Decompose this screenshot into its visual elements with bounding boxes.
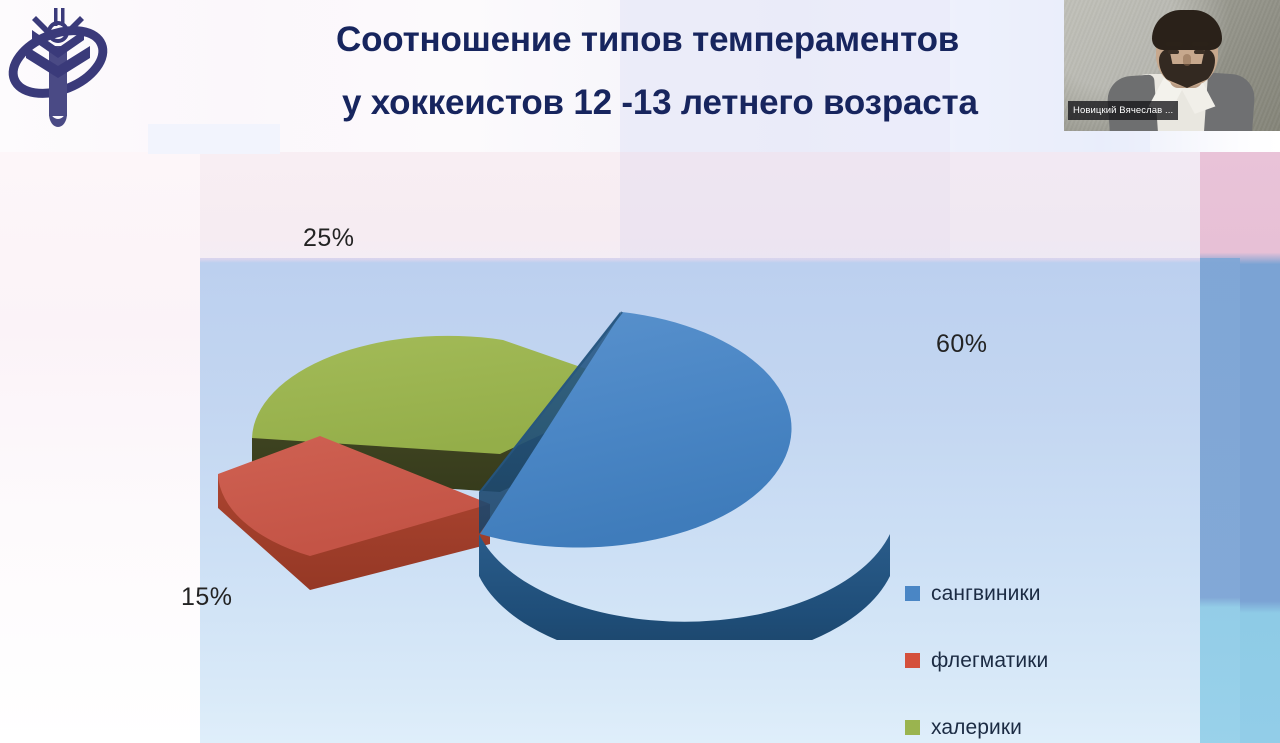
data-label-phlegmatic: 15% [181, 583, 233, 612]
page-title: Соотношение типов темпераментов у хоккеи… [336, 8, 1076, 134]
video-tile-gap [148, 124, 280, 154]
participant-brow-left [1165, 42, 1183, 46]
participant-eye-left [1168, 50, 1179, 54]
legend-item-choleric[interactable]: халерики [905, 694, 1225, 743]
presentation-slide: 25% 60% 15% сангвиники флегматики халери… [0, 0, 1280, 743]
background-stripe-left [0, 152, 200, 743]
participant-brow-right [1191, 42, 1209, 46]
legend-swatch-icon [905, 653, 920, 668]
data-label-choleric: 25% [303, 224, 355, 253]
participant-name-label: Новицкий Вячеслав ... [1068, 101, 1178, 120]
video-participant-tile[interactable]: Новицкий Вячеслав ... [1064, 0, 1280, 131]
participant-hair [1152, 10, 1222, 50]
chart-legend: сангвиники флегматики халерики [905, 560, 1225, 743]
institute-emblem-icon [6, 2, 110, 132]
data-label-sanguine: 60% [936, 330, 988, 359]
legend-item-label: халерики [931, 716, 1022, 740]
pie-chart [200, 240, 940, 640]
legend-item-label: сангвиники [931, 582, 1041, 606]
participant-nose [1183, 54, 1191, 66]
legend-item-label: флегматики [931, 649, 1048, 673]
legend-swatch-icon [905, 720, 920, 735]
title-line-1: Соотношение типов темпераментов [336, 8, 1076, 71]
title-line-2: у хоккеистов 12 -13 летнего возраста [336, 71, 1076, 134]
legend-item-phlegmatic[interactable]: флегматики [905, 627, 1225, 694]
legend-item-sanguine[interactable]: сангвиники [905, 560, 1225, 627]
legend-swatch-icon [905, 586, 920, 601]
participant-eye-right [1194, 50, 1205, 54]
